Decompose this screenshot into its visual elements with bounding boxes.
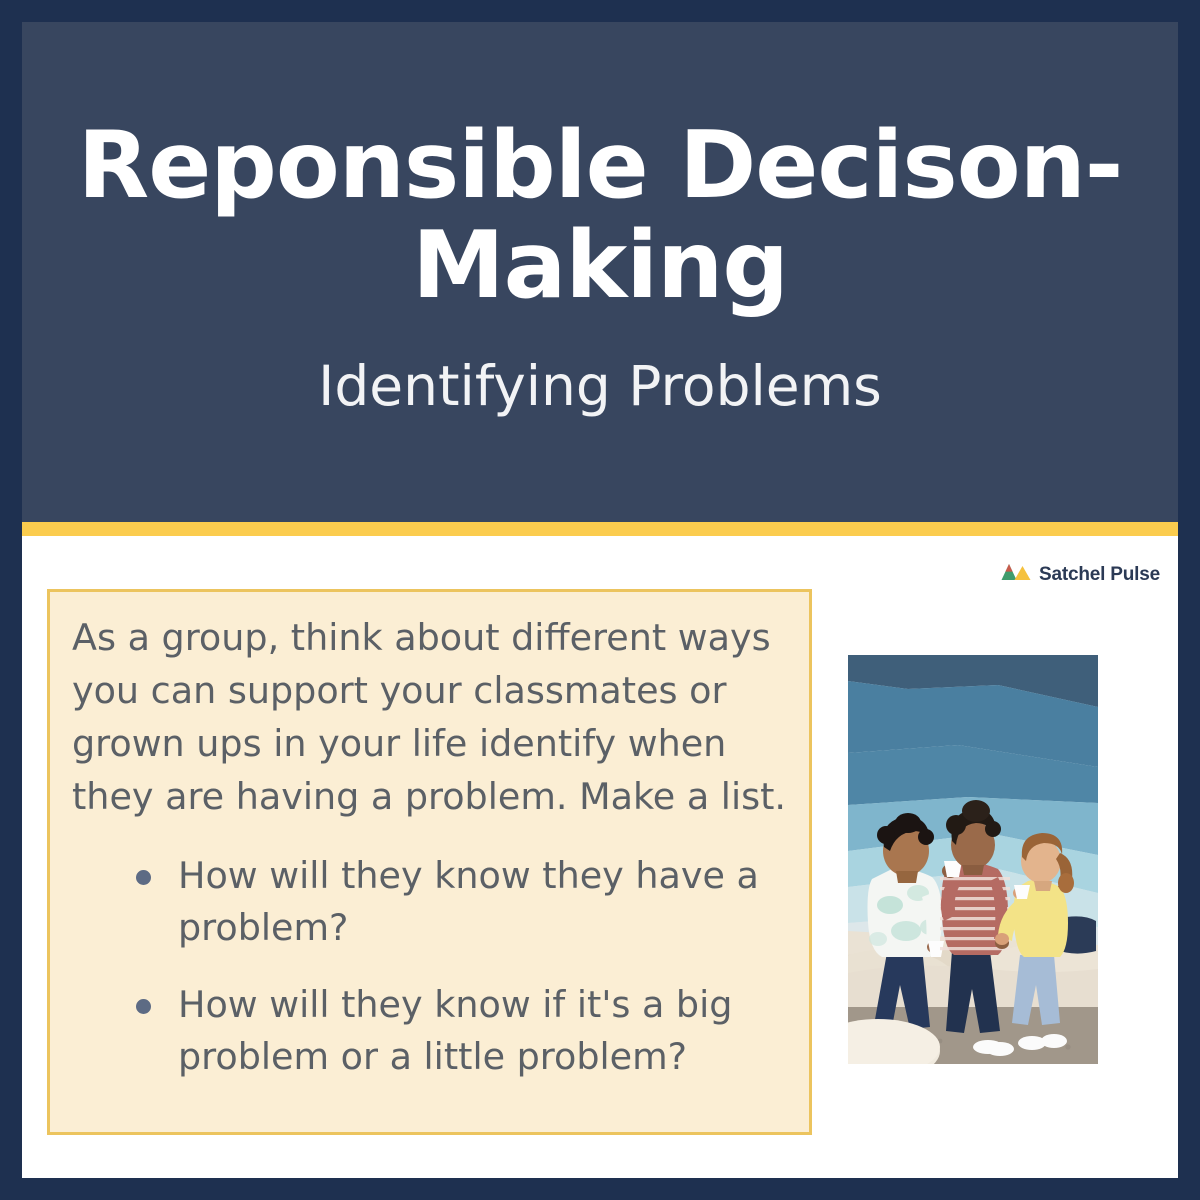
bullet-dot-icon [136, 999, 151, 1014]
activity-question-list: How will they know they have a problem? … [72, 850, 787, 1083]
list-item-label: How will they know they have a problem? [178, 854, 759, 949]
page-subtitle: Identifying Problems [318, 353, 882, 419]
brand-name-label: Satchel Pulse [1039, 564, 1160, 586]
activity-card: As a group, think about different ways y… [47, 589, 812, 1135]
slide-header: Reponsible Decison-Making Identifying Pr… [22, 22, 1178, 522]
list-item-label: How will they know if it's a big problem… [178, 983, 732, 1078]
list-item: How will they know if it's a big problem… [130, 979, 787, 1083]
bullet-dot-icon [136, 870, 151, 885]
list-item: How will they know they have a problem? [130, 850, 787, 954]
brand-logo: Satchel Pulse [1001, 562, 1160, 587]
activity-instructions: As a group, think about different ways y… [72, 612, 787, 824]
two-mountains-icon [1001, 562, 1031, 587]
classroom-photo [848, 655, 1098, 1064]
slide-body: Satchel Pulse As a group, think about di… [22, 536, 1178, 1178]
accent-divider [22, 522, 1178, 536]
slide-root: Reponsible Decison-Making Identifying Pr… [0, 0, 1200, 1200]
page-title: Reponsible Decison-Making [50, 115, 1150, 316]
